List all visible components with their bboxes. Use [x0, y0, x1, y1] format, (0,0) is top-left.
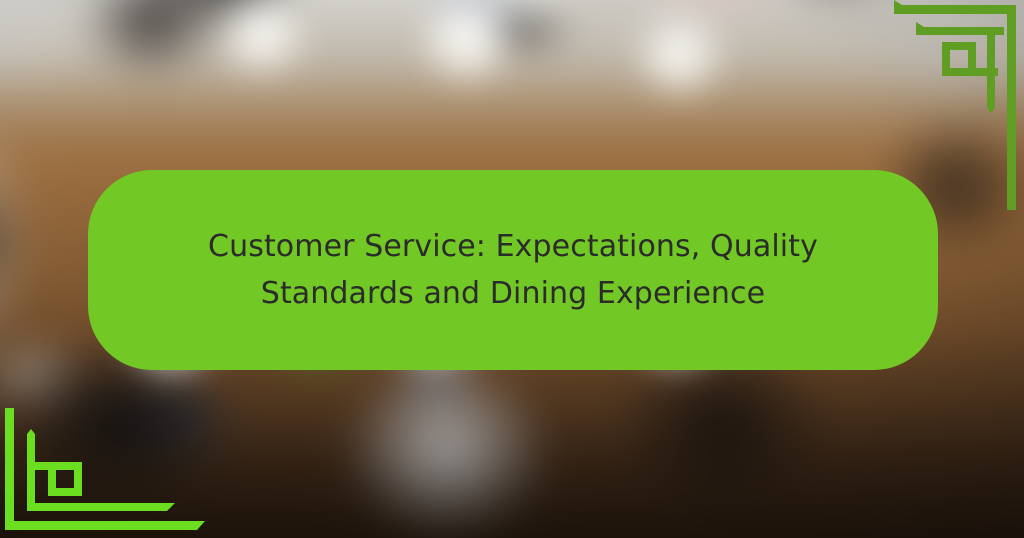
title-card: Customer Service: Expectations, Quality …	[88, 170, 938, 370]
slide-canvas: Customer Service: Expectations, Quality …	[0, 0, 1024, 538]
page-title: Customer Service: Expectations, Quality …	[208, 223, 818, 317]
